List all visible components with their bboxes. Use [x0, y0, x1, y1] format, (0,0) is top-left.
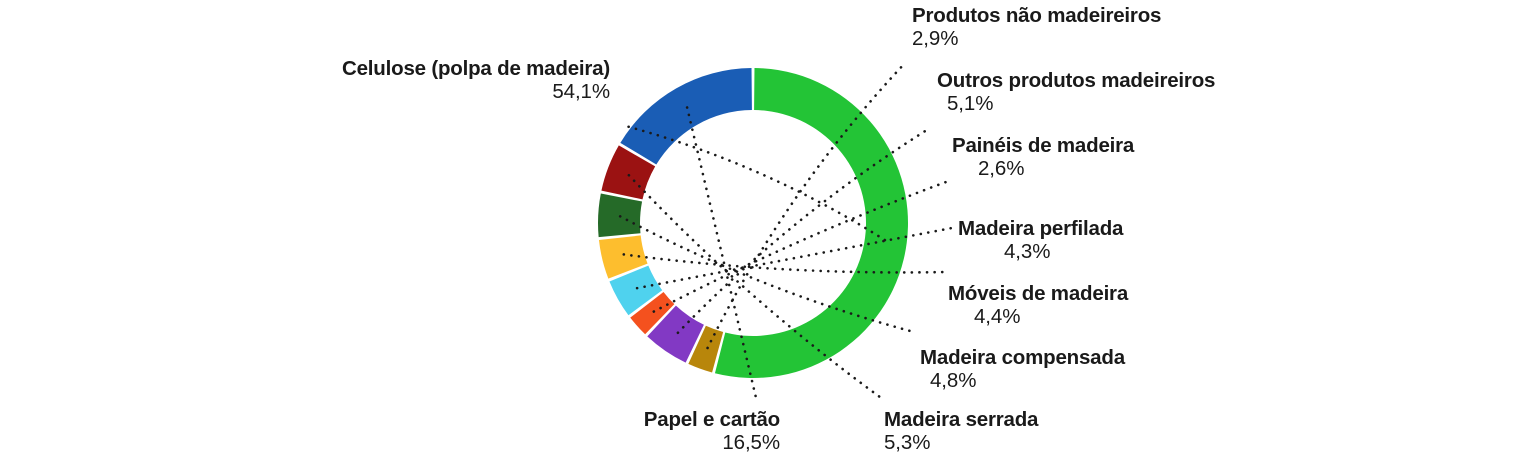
slice-label-celulose: Celulose (polpa de madeira) 54,1% — [248, 58, 610, 104]
slice-label-produtos-nao-madeireiros-name: Produtos não madeireiros — [912, 5, 1161, 28]
slice-label-produtos-nao-madeireiros-value: 2,9% — [912, 28, 1161, 51]
slice-label-paineis-de-madeira-name: Painéis de madeira — [952, 135, 1134, 158]
donut-chart — [0, 0, 1520, 468]
slice-label-celulose-name: Celulose (polpa de madeira) — [248, 58, 610, 81]
slice-label-papel-e-cartao-name: Papel e cartão — [530, 409, 780, 432]
slice-label-produtos-nao-madeireiros: Produtos não madeireiros 2,9% — [912, 5, 1161, 51]
slice-label-outros-produtos-madeireiros-value: 5,1% — [937, 93, 1215, 116]
slice-label-madeira-perfilada: Madeira perfilada 4,3% — [958, 218, 1123, 264]
slice-label-madeira-serrada-name: Madeira serrada — [884, 409, 1038, 432]
leader-line — [637, 228, 952, 288]
slice-label-paineis-de-madeira: Painéis de madeira 2,6% — [952, 135, 1134, 181]
slice-label-papel-e-cartao-value: 16,5% — [530, 432, 780, 455]
donut-slice[interactable] — [620, 68, 752, 165]
slice-label-madeira-compensada-value: 4,8% — [920, 370, 1125, 393]
slice-label-celulose-value: 54,1% — [248, 81, 610, 104]
slice-label-moveis-de-madeira: Móveis de madeira 4,4% — [948, 283, 1128, 329]
slice-label-madeira-compensada-name: Madeira compensada — [920, 347, 1125, 370]
slice-label-madeira-serrada: Madeira serrada 5,3% — [884, 409, 1038, 455]
chart-page: Celulose (polpa de madeira) 54,1% Produt… — [0, 0, 1520, 468]
slice-label-madeira-compensada: Madeira compensada 4,8% — [920, 347, 1125, 393]
slice-label-moveis-de-madeira-value: 4,4% — [948, 306, 1128, 329]
slice-label-paineis-de-madeira-value: 2,6% — [952, 158, 1134, 181]
slice-label-madeira-perfilada-value: 4,3% — [958, 241, 1123, 264]
slice-label-outros-produtos-madeireiros-name: Outros produtos madeireiros — [937, 70, 1215, 93]
slice-label-outros-produtos-madeireiros: Outros produtos madeireiros 5,1% — [937, 70, 1215, 116]
donut-slice[interactable] — [715, 68, 908, 378]
slice-label-madeira-serrada-value: 5,3% — [884, 432, 1038, 455]
slice-label-papel-e-cartao: Papel e cartão 16,5% — [530, 409, 780, 455]
donut-slices — [598, 68, 908, 378]
slice-label-moveis-de-madeira-name: Móveis de madeira — [948, 283, 1128, 306]
slice-label-madeira-perfilada-name: Madeira perfilada — [958, 218, 1123, 241]
